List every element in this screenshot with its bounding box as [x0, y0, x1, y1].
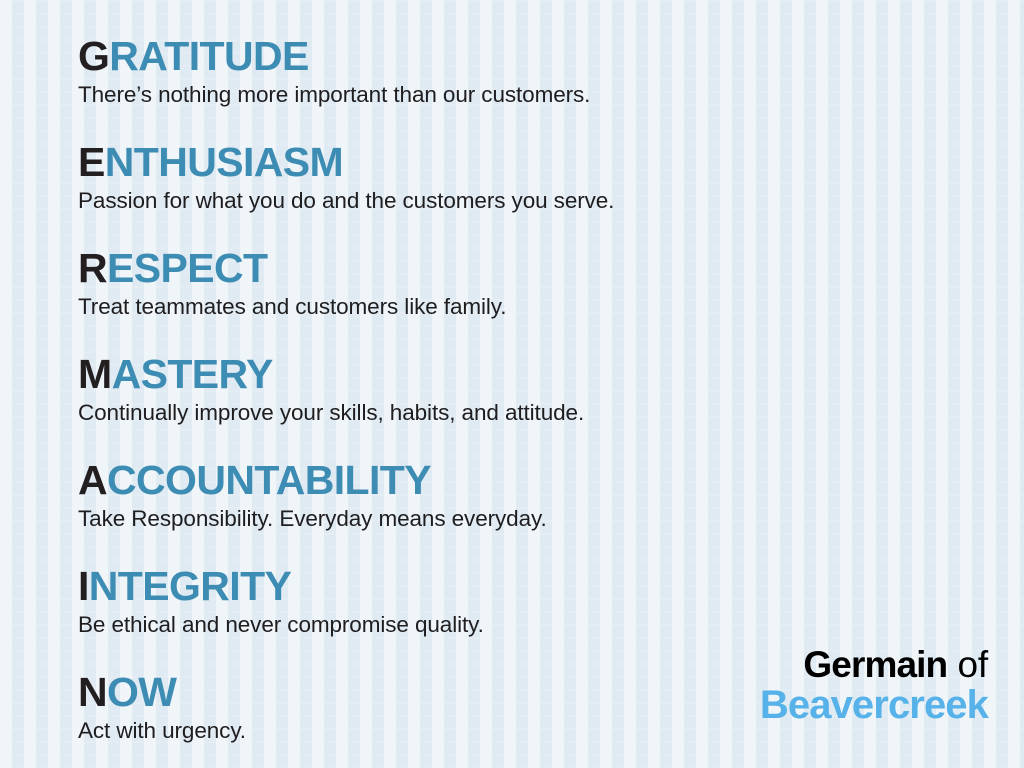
logo-connector: of — [958, 644, 988, 685]
value-title-initial: M — [78, 351, 112, 397]
value-block: ENTHUSIASMPassion for what you do and th… — [78, 142, 978, 242]
value-title-remainder: NTEGRITY — [89, 563, 291, 609]
value-block: MASTERYContinually improve your skills, … — [78, 354, 978, 454]
value-description: Take Responsibility. Everyday means ever… — [78, 504, 978, 533]
value-title-initial: R — [78, 245, 107, 291]
dealership-logo: Germain of Beavercreek — [760, 646, 988, 726]
value-block: GRATITUDEThere’s nothing more important … — [78, 36, 978, 136]
value-title-initial: N — [78, 669, 107, 715]
value-description: Continually improve your skills, habits,… — [78, 398, 978, 427]
value-title-remainder: ASTERY — [112, 351, 273, 397]
value-title: ENTHUSIASM — [78, 142, 978, 184]
value-title: GRATITUDE — [78, 36, 978, 78]
value-description: Passion for what you do and the customer… — [78, 186, 978, 215]
value-title-remainder: RATITUDE — [109, 33, 308, 79]
value-title-remainder: OW — [107, 669, 176, 715]
value-title-initial: I — [78, 563, 89, 609]
poster-canvas: GRATITUDEThere’s nothing more important … — [0, 0, 1024, 768]
value-title: ACCOUNTABILITY — [78, 460, 978, 502]
value-description: Be ethical and never compromise quality. — [78, 610, 978, 639]
value-description: Treat teammates and customers like famil… — [78, 292, 978, 321]
logo-line-primary: Germain of — [760, 646, 988, 684]
value-title-initial: E — [78, 139, 105, 185]
value-description: There’s nothing more important than our … — [78, 80, 978, 109]
value-block: ACCOUNTABILITYTake Responsibility. Every… — [78, 460, 978, 560]
value-title: MASTERY — [78, 354, 978, 396]
logo-brand-name: Germain — [803, 644, 947, 685]
value-title-remainder: NTHUSIASM — [105, 139, 343, 185]
value-title-initial: A — [78, 457, 107, 503]
value-title: RESPECT — [78, 248, 978, 290]
value-title: INTEGRITY — [78, 566, 978, 608]
value-title-remainder: ESPECT — [107, 245, 267, 291]
value-title-remainder: CCOUNTABILITY — [107, 457, 431, 503]
value-title-initial: G — [78, 33, 109, 79]
value-block: RESPECTTreat teammates and customers lik… — [78, 248, 978, 348]
logo-location: Beavercreek — [760, 685, 988, 726]
